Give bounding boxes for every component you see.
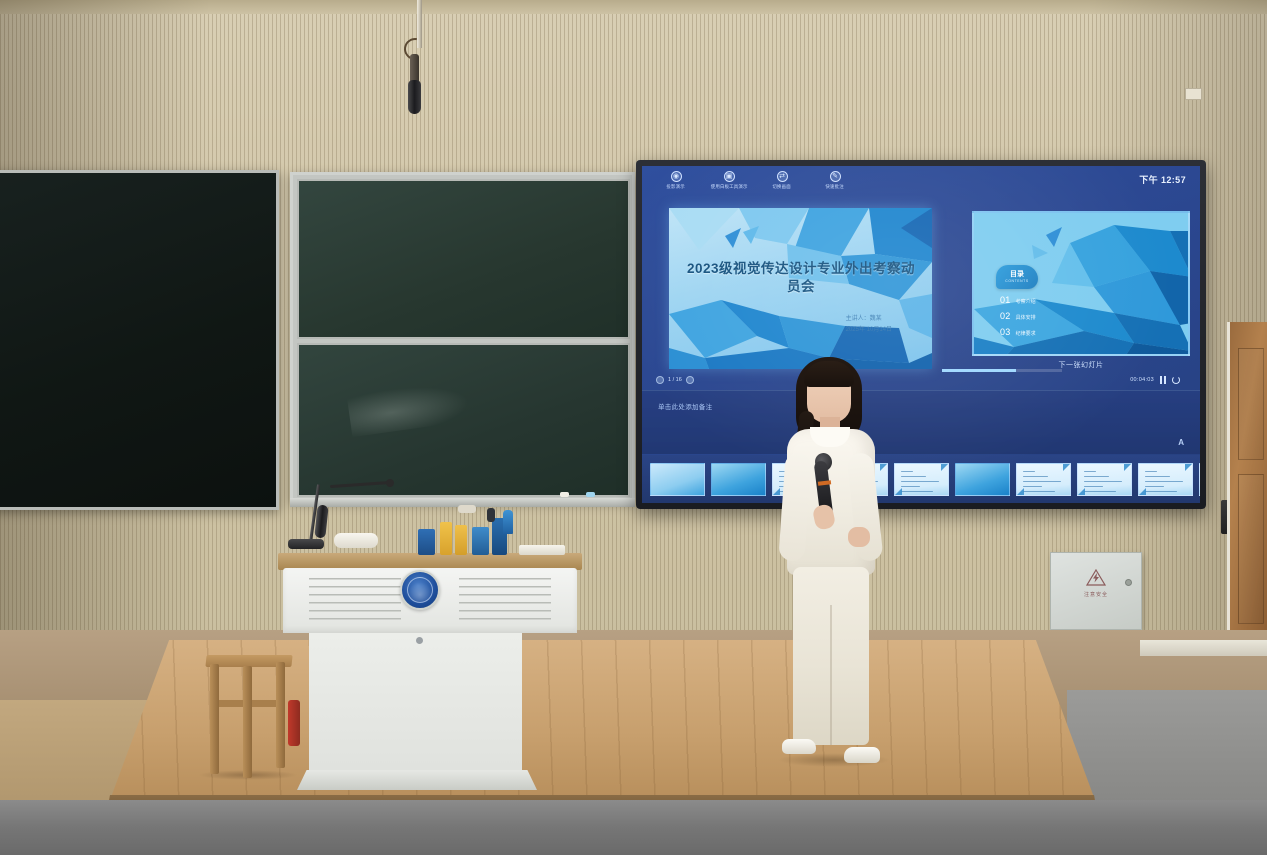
pointer-tip bbox=[386, 479, 394, 487]
hanging-microphone bbox=[408, 80, 421, 114]
filmstrip-thumbnail[interactable] bbox=[650, 463, 705, 496]
filmstrip-thumbnail[interactable] bbox=[955, 463, 1010, 496]
slide-progress-fill bbox=[942, 369, 1016, 372]
door-panel-upper bbox=[1238, 348, 1264, 460]
slide-filmstrip[interactable] bbox=[642, 455, 1200, 503]
thumbnail-text-line bbox=[1145, 471, 1157, 472]
thumbnail-text-line bbox=[1023, 481, 1061, 482]
door-panel-lower bbox=[1238, 474, 1264, 624]
thumbnail-text-line bbox=[1145, 491, 1177, 492]
thumbnail-text-line bbox=[901, 471, 913, 472]
presenter-controls[interactable]: 1 / 16 00:04:03 bbox=[642, 374, 1200, 388]
toolbar-label: 快速批注 bbox=[826, 184, 844, 190]
panel-warning-label: 注意安全 bbox=[1051, 591, 1141, 598]
chalk-piece bbox=[586, 492, 595, 497]
presenter-shoe-right bbox=[844, 747, 880, 763]
thumbnail-text-line bbox=[1084, 471, 1096, 472]
toc-text: 考察介绍 bbox=[1016, 298, 1036, 305]
switch-screen-icon: ⇄ bbox=[777, 171, 788, 182]
blackboard-panel-bottom bbox=[297, 343, 630, 497]
system-clock: 下午 12:57 bbox=[1139, 173, 1186, 186]
toc-badge-en: CONTENTS bbox=[1005, 279, 1028, 283]
slide-title: 2023级视觉传达设计专业外出考察动员会 bbox=[685, 260, 917, 296]
classroom-scene: ◉ 投影演示 ▣ 使用白板工具演示 ⇄ 切换画面 ✎ 快速批注 下午 12:57 bbox=[0, 0, 1267, 855]
small-box bbox=[458, 505, 476, 513]
notes-placeholder[interactable]: 单击此处添加备注 bbox=[658, 401, 712, 411]
rolled-paper bbox=[334, 533, 378, 548]
blackboard-left bbox=[0, 170, 279, 510]
podium-base bbox=[297, 770, 537, 790]
podium-vent-right bbox=[459, 578, 551, 622]
slide-subtitle: 主讲人：魏某 2025年 10月14日 bbox=[846, 314, 892, 337]
panel-lock-knob[interactable] bbox=[1125, 579, 1132, 586]
thumbnail-text-line bbox=[1145, 481, 1183, 482]
filmstrip-thumbnail[interactable] bbox=[1077, 463, 1132, 496]
drink-box-blue bbox=[418, 529, 435, 555]
interactive-smartboard[interactable]: ◉ 投影演示 ▣ 使用白板工具演示 ⇄ 切换画面 ✎ 快速批注 下午 12:57 bbox=[636, 160, 1206, 509]
thumbnail-text-line bbox=[901, 476, 926, 477]
filmstrip-thumbnail[interactable] bbox=[894, 463, 949, 496]
blackboard-right bbox=[290, 172, 635, 502]
presenter-hand-right bbox=[848, 527, 870, 547]
thumbnail-text-line bbox=[901, 486, 920, 487]
whiteboard-icon: ▣ bbox=[724, 171, 735, 182]
gooseneck-mic-base bbox=[288, 539, 324, 549]
electrical-hazard-icon bbox=[1086, 569, 1106, 586]
thumbnail-text-line bbox=[901, 491, 933, 492]
presenter-hair-front bbox=[804, 361, 854, 387]
floor-front bbox=[0, 800, 1267, 855]
bottle-cap-dark bbox=[487, 508, 495, 522]
thumbnail-text-line bbox=[1084, 481, 1122, 482]
slide-counter-group[interactable]: 1 / 16 bbox=[656, 376, 694, 384]
toc-badge: 目录 CONTENTS bbox=[996, 265, 1038, 289]
slide-presenter-line: 主讲人：魏某 bbox=[846, 314, 892, 325]
toolbar-label: 投影演示 bbox=[667, 184, 685, 190]
filmstrip-thumbnail[interactable] bbox=[1016, 463, 1071, 496]
drink-can-blue bbox=[472, 527, 489, 555]
toolbar-item-projector[interactable]: ◉ 投影演示 bbox=[656, 171, 696, 190]
drink-bottle-yellow bbox=[440, 522, 452, 555]
wall-outlet-plate bbox=[1185, 88, 1202, 100]
thumbnail-text-line bbox=[1145, 486, 1164, 487]
thumbnail-text-line bbox=[901, 481, 939, 482]
thumbnail-text-line bbox=[1023, 476, 1048, 477]
blackboard-panel-top bbox=[297, 179, 630, 339]
thumbnail-corner-accent bbox=[941, 464, 948, 471]
thumbnail-text-line bbox=[1023, 486, 1042, 487]
thumbnail-corner-accent bbox=[1017, 488, 1024, 495]
next-slide-icon[interactable] bbox=[686, 376, 694, 384]
thumbnail-corner-accent bbox=[1124, 464, 1131, 471]
toolbar-label: 切换画面 bbox=[773, 184, 791, 190]
baseboard bbox=[1140, 640, 1267, 656]
thumbnail-text-line bbox=[1084, 476, 1109, 477]
toc-item: 01 考察介绍 bbox=[1000, 295, 1036, 305]
stool-leg bbox=[276, 662, 285, 768]
thumbnail-text-line bbox=[1023, 471, 1035, 472]
font-size-icon[interactable]: A bbox=[1178, 438, 1184, 447]
toolbar-item-annotate[interactable]: ✎ 快速批注 bbox=[815, 171, 855, 190]
toolbar-label: 使用白板工具演示 bbox=[711, 184, 748, 190]
thumbnail-text-line bbox=[1145, 476, 1170, 477]
stool-leg bbox=[210, 664, 219, 774]
annotate-icon: ✎ bbox=[830, 171, 841, 182]
filmstrip-thumbnail[interactable] bbox=[1138, 463, 1193, 496]
toc-item: 03 纪律要求 bbox=[1000, 327, 1036, 337]
current-slide-preview[interactable]: 2023级视觉传达设计专业外出考察动员会 主讲人：魏某 2025年 10月14日 bbox=[669, 208, 932, 369]
elapsed-timer: 00:04:03 bbox=[1130, 377, 1154, 383]
toc-text: 具体安排 bbox=[1016, 314, 1036, 321]
slide-date-line: 2025年 10月14日 bbox=[846, 325, 892, 336]
university-emblem bbox=[400, 570, 440, 610]
toc-text: 纪律要求 bbox=[1016, 330, 1036, 337]
classroom-door[interactable] bbox=[1227, 322, 1267, 657]
thumbnail-corner-accent bbox=[1139, 488, 1146, 495]
toolbar-item-switch-screen[interactable]: ⇄ 切换画面 bbox=[762, 171, 802, 190]
filmstrip-thumbnail[interactable] bbox=[711, 463, 766, 496]
reset-timer-icon[interactable] bbox=[1172, 376, 1180, 384]
stool-leg bbox=[243, 666, 252, 778]
presenter bbox=[760, 355, 900, 785]
thumbnail-text-line bbox=[1084, 486, 1103, 487]
toc-number: 01 bbox=[1000, 295, 1011, 305]
toc-list: 01 考察介绍 02 具体安排 03 纪律要求 bbox=[1000, 295, 1036, 343]
slide-progress-track[interactable] bbox=[942, 369, 1062, 372]
thumbnail-corner-accent bbox=[1185, 464, 1192, 471]
next-slide-preview[interactable]: 目录 CONTENTS 01 考察介绍 02 具体安排 03 纪律要求 bbox=[972, 211, 1190, 356]
projector-icon: ◉ bbox=[671, 171, 682, 182]
emblem-inner-ring bbox=[407, 577, 433, 603]
toc-number: 02 bbox=[1000, 311, 1011, 321]
slide-counter: 1 / 16 bbox=[668, 377, 682, 383]
toc-number: 03 bbox=[1000, 327, 1011, 337]
toc-item: 02 具体安排 bbox=[1000, 311, 1036, 321]
chalk-piece bbox=[560, 492, 569, 497]
thumbnail-corner-accent bbox=[1078, 488, 1085, 495]
chalk-smudge bbox=[347, 379, 472, 437]
thumbnail-text-line bbox=[1023, 491, 1055, 492]
timer-group[interactable]: 00:04:03 bbox=[1130, 376, 1180, 384]
electrical-panel[interactable]: 注意安全 bbox=[1050, 552, 1142, 630]
smartboard-display[interactable]: ◉ 投影演示 ▣ 使用白板工具演示 ⇄ 切换画面 ✎ 快速批注 下午 12:57 bbox=[642, 166, 1200, 503]
drink-bottle-yellow-2 bbox=[455, 525, 467, 555]
toc-badge-cn: 目录 bbox=[1010, 271, 1024, 278]
podium-vent-left bbox=[309, 578, 401, 622]
toolbar-item-whiteboard[interactable]: ▣ 使用白板工具演示 bbox=[709, 171, 749, 190]
presenter-shoe-left bbox=[782, 739, 816, 754]
spray-bottle bbox=[503, 510, 513, 534]
fire-extinguisher bbox=[288, 700, 300, 746]
thumbnail-corner-accent bbox=[1063, 464, 1070, 471]
presenter-toolbar[interactable]: ◉ 投影演示 ▣ 使用白板工具演示 ⇄ 切换画面 ✎ 快速批注 bbox=[642, 166, 1200, 198]
thumbnail-text-line bbox=[1084, 491, 1116, 492]
podium-cabinet-handle[interactable] bbox=[416, 637, 423, 644]
speaker-notes-pane[interactable]: 单击此处添加备注 A bbox=[642, 390, 1200, 454]
paper-sheet bbox=[519, 545, 565, 555]
pause-icon[interactable] bbox=[1160, 376, 1166, 384]
previous-slide-icon[interactable] bbox=[656, 376, 664, 384]
presenter-trouser-seam bbox=[830, 605, 832, 745]
filmstrip-thumbnail[interactable] bbox=[1199, 463, 1200, 496]
podium-cabinet[interactable] bbox=[309, 633, 522, 781]
